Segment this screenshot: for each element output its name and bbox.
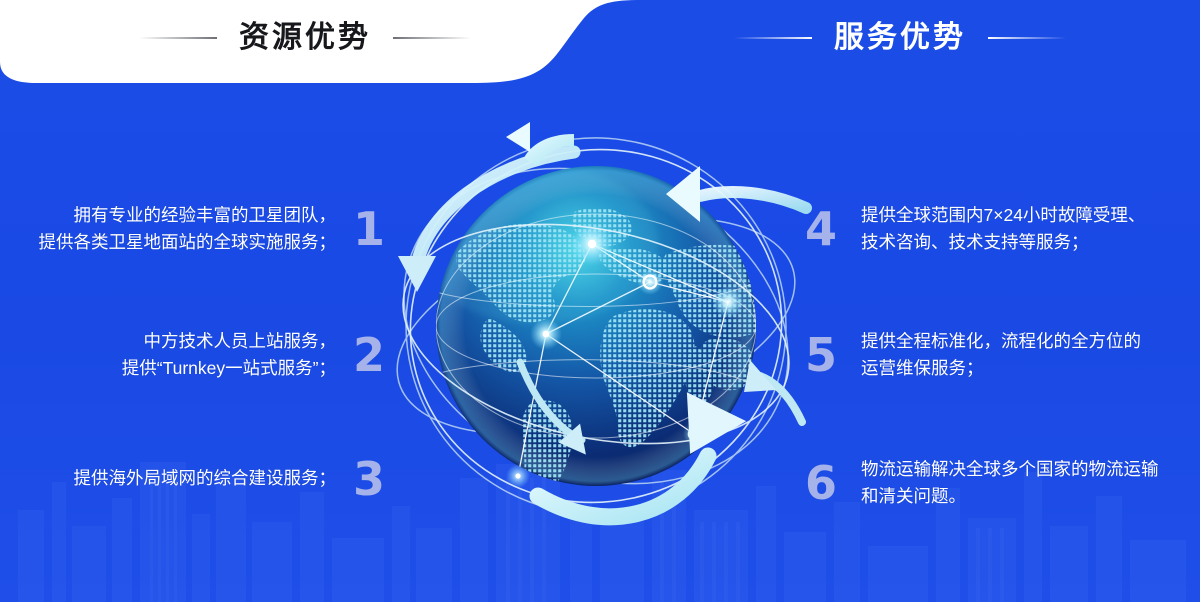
list-item[interactable]: 中方技术人员上站服务， 提供“Turnkey一站式服务”； 2 bbox=[122, 328, 385, 382]
globe-network-illustration bbox=[378, 104, 828, 554]
list-item[interactable]: 5 提供全程标准化，流程化的全方位的 运营维保服务； bbox=[805, 328, 1141, 382]
list-item[interactable]: 提供海外局域网的综合建设服务； 3 bbox=[73, 456, 385, 502]
list-item[interactable]: 6 物流运输解决全球多个国家的物流运输 和清关问题。 bbox=[805, 456, 1159, 510]
slide-canvas: 资源优势 服务优势 bbox=[0, 0, 1200, 602]
list-item[interactable]: 4 提供全球范围内7×24小时故障受理、 技术咨询、技术支持等服务； bbox=[805, 202, 1145, 256]
header-rule-left bbox=[139, 37, 217, 39]
header-rule-right bbox=[988, 37, 1066, 39]
list-item-number: 2 bbox=[353, 332, 385, 378]
left-section-header: 资源优势 bbox=[105, 14, 505, 62]
list-item-number: 6 bbox=[805, 460, 837, 506]
right-section-header: 服务优势 bbox=[700, 14, 1100, 62]
list-item-text: 提供海外局域网的综合建设服务； bbox=[73, 465, 336, 492]
header-rule-left bbox=[734, 37, 812, 39]
list-item-number: 5 bbox=[805, 332, 837, 378]
list-item-number: 3 bbox=[353, 456, 385, 502]
list-item-text: 物流运输解决全球多个国家的物流运输 和清关问题。 bbox=[861, 456, 1159, 510]
list-item[interactable]: 拥有专业的经验丰富的卫星团队， 提供各类卫星地面站的全球实施服务； 1 bbox=[38, 202, 385, 256]
list-item-text: 拥有专业的经验丰富的卫星团队， 提供各类卫星地面站的全球实施服务； bbox=[38, 202, 336, 256]
list-item-text: 提供全球范围内7×24小时故障受理、 技术咨询、技术支持等服务； bbox=[861, 202, 1145, 256]
list-item-number: 4 bbox=[805, 206, 837, 252]
header-rule-right bbox=[393, 37, 471, 39]
right-section-title: 服务优势 bbox=[834, 23, 966, 53]
left-section-title: 资源优势 bbox=[239, 23, 371, 53]
list-item-text: 中方技术人员上站服务， 提供“Turnkey一站式服务”； bbox=[122, 328, 336, 382]
list-item-number: 1 bbox=[353, 206, 385, 252]
list-item-text: 提供全程标准化，流程化的全方位的 运营维保服务； bbox=[861, 328, 1141, 382]
